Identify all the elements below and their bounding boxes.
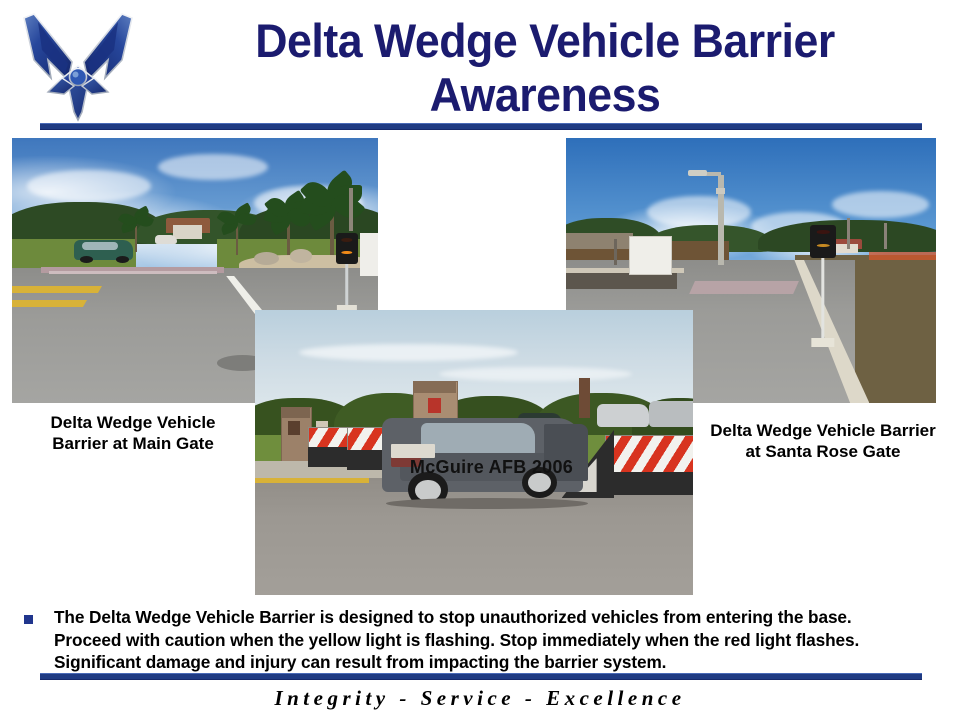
photo-mcguire-afb-2006: McGuire AFB 2006 [255, 310, 693, 595]
bullet-item-text: The Delta Wedge Vehicle Barrier is desig… [54, 606, 911, 674]
header-divider [40, 123, 922, 130]
photo-caption-santa-rose-gate: Delta Wedge Vehicle Barrier at Santa Ros… [690, 420, 956, 462]
traffic-signal-icon [336, 233, 358, 313]
caption-santa-rose-line-2: at Santa Rose Gate [690, 441, 956, 462]
slide-canvas: Delta Wedge Vehicle Barrier Awareness [0, 0, 960, 720]
page-title-line-1: Delta Wedge Vehicle Barrier [255, 14, 834, 67]
caption-main-gate-line-1: Delta Wedge Vehicle [8, 412, 258, 433]
photo-caption-mcguire: McGuire AFB 2006 [395, 457, 588, 478]
bullet-marker-icon [24, 615, 33, 624]
bullet-list: The Delta Wedge Vehicle Barrier is desig… [24, 606, 924, 674]
footer-motto: Integrity - Service - Excellence [0, 686, 960, 711]
caption-santa-rose-line-1: Delta Wedge Vehicle Barrier [690, 420, 956, 441]
traffic-signal-icon [810, 225, 836, 350]
page-title: Delta Wedge Vehicle Barrier Awareness [170, 14, 921, 122]
us-air-force-symbol-logo [18, 8, 138, 124]
caption-main-gate-line-2: Barrier at Main Gate [8, 433, 258, 454]
page-title-line-2: Awareness [170, 68, 921, 122]
footer-divider [40, 673, 922, 680]
photo-caption-main-gate: Delta Wedge Vehicle Barrier at Main Gate [8, 412, 258, 454]
